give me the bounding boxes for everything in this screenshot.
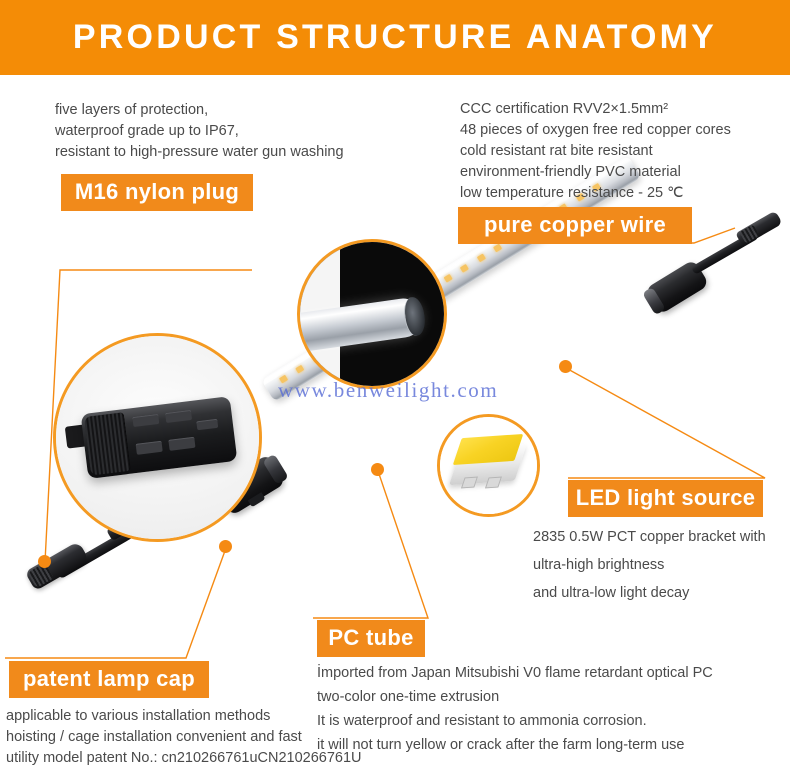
plug-knurled-nut: [84, 412, 131, 476]
patent-lamp-cap-description: applicable to various installation metho…: [6, 706, 362, 769]
leader-line-led-light-source: [566, 368, 765, 478]
badge-patent-lamp-cap[interactable]: patent lamp cap: [9, 661, 209, 698]
smd-2835-led-photo: [440, 417, 537, 514]
m16-plug-line-1: five layers of protection,: [55, 100, 344, 121]
end-cap-collar: [262, 454, 289, 485]
pc-tube-description: İmported from Japan Mitsubishi V0 flame …: [317, 661, 713, 757]
led-solder-pad: [461, 477, 478, 489]
end-cap-collar-upper: [642, 287, 666, 315]
lamp-end-cap-upper: [644, 259, 709, 315]
pc-tube-line-4: it will not turn yellow or crack after t…: [317, 733, 713, 757]
plug-rib: [197, 419, 219, 431]
pc-tube-open-end: [402, 296, 428, 337]
m16-waterproof-plug-upper: [735, 211, 782, 247]
plug-knurl-upper: [739, 224, 759, 243]
led-line-3: and ultra-low light decay: [533, 579, 766, 607]
pc-tube-line-2: two-color one-time extrusion: [317, 685, 713, 709]
m16-plug-photo: [56, 336, 259, 539]
m16-plug-closeup-inset: [53, 333, 262, 542]
leader-dot-patent-lamp-cap: [219, 540, 232, 553]
copper-wire-line-1: CCC certification RVV2×1.5mm²: [460, 99, 731, 120]
plug-rib: [136, 441, 163, 454]
plug-housing: [81, 396, 238, 479]
leader-dot-led-light-source: [559, 360, 572, 373]
pc-tube-photo: [300, 242, 444, 386]
leader-dot-m16-plug: [38, 555, 51, 568]
badge-pure-copper-wire[interactable]: pure copper wire: [458, 207, 692, 244]
power-cable-upper: [691, 230, 760, 275]
badge-led-light-source[interactable]: LED light source: [568, 480, 763, 517]
header-banner: PRODUCT STRUCTURE ANATOMY: [0, 0, 790, 75]
patent-line-2: hoisting / cage installation convenient …: [6, 727, 362, 748]
led-light-source-description: 2835 0.5W PCT copper bracket with ultra-…: [533, 523, 766, 607]
patent-line-1: applicable to various installation metho…: [6, 706, 362, 727]
badge-pc-tube[interactable]: PC tube: [317, 620, 425, 657]
led-line-2: ultra-high brightness: [533, 551, 766, 579]
m16-plug-description: five layers of protection, waterproof gr…: [55, 100, 344, 163]
pc-tube-line-3: It is waterproof and resistant to ammoni…: [317, 709, 713, 733]
pc-tube-closeup-inset: [297, 239, 447, 389]
led-line-1: 2835 0.5W PCT copper bracket with: [533, 523, 766, 551]
watermark: www.benweilight.com: [278, 378, 498, 403]
patent-line-3: utility model patent No.: cn210266761uCN…: [6, 748, 362, 769]
copper-wire-line-4: environment-friendly PVC material: [460, 162, 731, 183]
copper-wire-description: CCC certification RVV2×1.5mm² 48 pieces …: [460, 99, 731, 204]
led-chip-closeup-inset: [437, 414, 540, 517]
product-anatomy-infographic: PRODUCT STRUCTURE ANATOMY: [0, 0, 790, 780]
m16-plug-line-3: resistant to high-pressure water gun was…: [55, 142, 344, 163]
copper-wire-line-3: cold resistant rat bite resistant: [460, 141, 731, 162]
plug-rib: [133, 414, 160, 427]
copper-wire-line-5: low temperature resistance - 25 ℃: [460, 183, 731, 204]
copper-wire-line-2: 48 pieces of oxygen free red copper core…: [460, 120, 731, 141]
plug-rib: [169, 437, 196, 450]
leader-dot-pc-tube: [371, 463, 384, 476]
m16-plug-line-2: waterproof grade up to IP67,: [55, 121, 344, 142]
page-title: PRODUCT STRUCTURE ANATOMY: [73, 18, 717, 57]
leader-line-pc-tube: [313, 471, 428, 618]
plug-rib: [166, 410, 193, 423]
m16-waterproof-plug-lower: [25, 541, 90, 591]
led-solder-pad: [485, 477, 502, 489]
badge-m16-nylon-plug[interactable]: M16 nylon plug: [61, 174, 253, 211]
pc-tube-line-1: İmported from Japan Mitsubishi V0 flame …: [317, 661, 713, 685]
